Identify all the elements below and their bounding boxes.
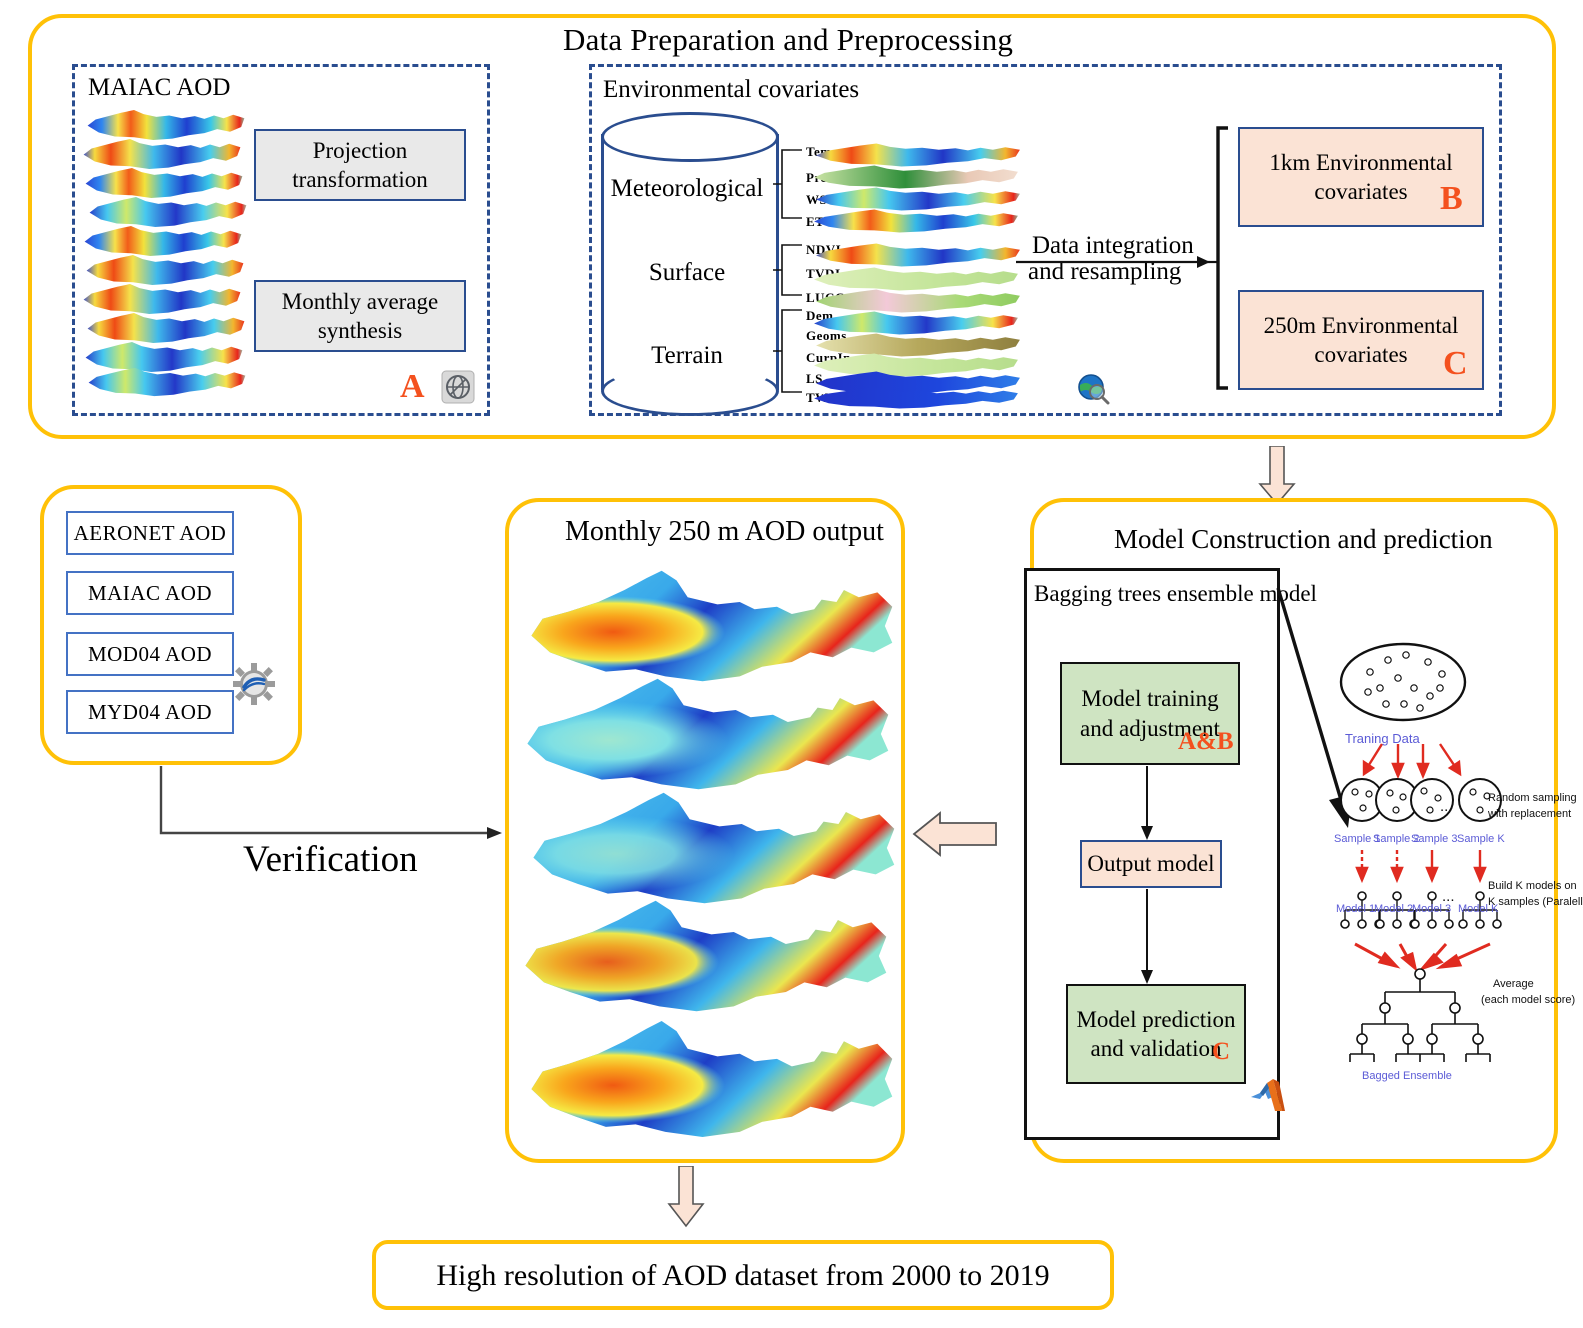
bagging-sample-k-label: Sample K: [1457, 833, 1505, 845]
globe-magnifier-icon: [1076, 372, 1110, 411]
bagging-sample-3-label: Sample 3: [1411, 833, 1457, 845]
bagging-average-note-1: Average: [1493, 978, 1534, 990]
bagging-training-data-label: Traning Data: [1345, 731, 1420, 746]
bagging-build-note-2: K samples (Paralell): [1488, 896, 1583, 908]
projection-transformation-box: Projection transformation: [254, 129, 466, 201]
covariate-raster-stack: [812, 142, 1032, 410]
source-maiac-aod-label: MAIAC AOD: [88, 580, 212, 607]
monthly-average-synthesis-box: Monthly average synthesis: [254, 280, 466, 352]
marker-a: A: [400, 368, 425, 406]
marker-b: B: [1440, 180, 1463, 218]
output-model-box: Output model: [1080, 840, 1222, 888]
bagging-sampling-note-1: Random sampling: [1488, 792, 1577, 804]
page-title: Data Preparation and Preprocessing: [563, 22, 1013, 58]
bagging-model-2-label: Model 2: [1374, 903, 1413, 915]
footer-result-label: High resolution of AOD dataset from 2000…: [372, 1259, 1114, 1293]
bagging-ensemble-label: Bagged Ensemble: [1362, 1070, 1452, 1082]
maiac-map-stack: [82, 108, 252, 400]
arcgis-globe-icon: [441, 370, 475, 409]
cylinder-group-surface: Surface: [601, 259, 773, 287]
source-mod04-aod-label: MOD04 AOD: [88, 641, 212, 668]
projection-transformation-label: Projection transformation: [266, 136, 454, 195]
source-aeronet-aod: AERONET AOD: [66, 511, 234, 555]
bagging-ellipsis-models: ...: [1442, 888, 1455, 905]
marker-c-covariates: C: [1443, 345, 1468, 383]
cylinder-group-meteorological: Meteorological: [601, 175, 773, 203]
bagging-sampling-note-2: with replacement: [1488, 808, 1571, 820]
matlab-icon: [1249, 1078, 1287, 1119]
cylinder-group-terrain: Terrain: [601, 342, 773, 370]
verification-label: Verification: [243, 838, 418, 881]
output-model-label: Output model: [1087, 849, 1214, 878]
gear-network-icon: [233, 663, 275, 710]
source-myd04-aod: MYD04 AOD: [66, 690, 234, 734]
source-myd04-aod-label: MYD04 AOD: [88, 699, 212, 726]
environmental-covariates-title: Environmental covariates: [603, 76, 859, 104]
marker-a-and-b: A&B: [1178, 728, 1234, 756]
source-maiac-aod: MAIAC AOD: [66, 571, 234, 615]
arrow-model-to-output: [912, 810, 998, 863]
data-integration-label-2: and resampling: [1028, 258, 1181, 286]
covariate-cylinder-top: [601, 112, 779, 162]
bagging-average-note-2: (each model score): [1481, 994, 1575, 1006]
model-prediction-box: Model prediction and validation: [1066, 984, 1246, 1084]
covariate-cylinder-bottom: [601, 366, 779, 416]
model-construction-title: Model Construction and prediction: [1114, 524, 1493, 555]
source-mod04-aod: MOD04 AOD: [66, 632, 234, 676]
marker-c-prediction: C: [1212, 1038, 1230, 1066]
bagging-model-1-label: Model 1: [1336, 903, 1375, 915]
maiac-aod-title: MAIAC AOD: [88, 74, 230, 102]
source-aeronet-aod-label: AERONET AOD: [74, 520, 227, 547]
aod-output-map-stack: [516, 566, 900, 1146]
bagging-build-note-1: Build K models on: [1488, 880, 1577, 892]
monthly-average-synthesis-label: Monthly average synthesis: [266, 287, 454, 346]
bagging-ellipsis-samples: ...: [1440, 798, 1453, 815]
data-integration-label-1: Data integration: [1032, 232, 1194, 260]
arrow-output-to-footer: [664, 1166, 708, 1233]
aod-output-title: Monthly 250 m AOD output: [565, 516, 884, 548]
bagging-trees-label: Bagging trees ensemble model: [1034, 581, 1317, 607]
